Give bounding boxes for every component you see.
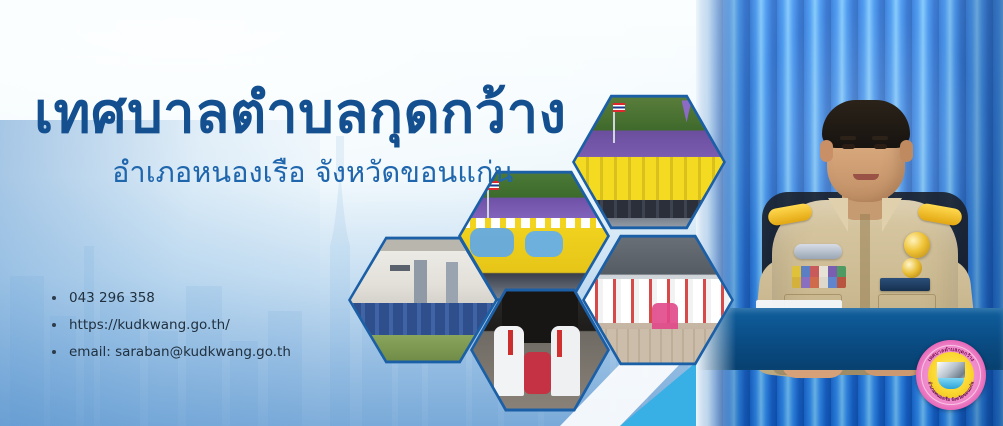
medal-small <box>902 258 922 278</box>
seal-text-ring: เทศบาลตำบลกุดกว้าง อำเภอหนองเรือ จังหวัด… <box>916 340 986 410</box>
right-eyebrow <box>872 136 888 140</box>
contact-phone-label: 043 296 358 <box>69 290 155 306</box>
hair <box>822 100 910 148</box>
bullet-icon <box>52 350 56 354</box>
ribbon-bars <box>792 266 846 288</box>
medal-large <box>904 232 930 258</box>
right-ear <box>900 140 913 162</box>
contact-item-website[interactable]: https://kudkwang.go.th/ <box>52 317 291 333</box>
panel-soft-edge <box>696 0 736 426</box>
seal-top-text: เทศบาลตำบลกุดกว้าง <box>927 346 976 364</box>
contact-email-label: email: saraban@kudkwang.go.th <box>69 344 291 360</box>
name-badge <box>880 278 930 291</box>
contact-item-email[interactable]: email: saraban@kudkwang.go.th <box>52 344 291 360</box>
wing-insignia <box>794 244 842 259</box>
right-eye <box>874 144 887 149</box>
mouth <box>853 174 879 180</box>
left-eyebrow <box>840 136 856 140</box>
page-title: เทศบาลตำบลกุดกว้าง <box>34 84 567 143</box>
contact-item-phone[interactable]: 043 296 358 <box>52 290 291 306</box>
left-ear <box>820 140 833 162</box>
collar-right <box>882 198 902 232</box>
seal-bottom-text: อำเภอหนองเรือ จังหวัดขอนแก่น <box>926 380 976 403</box>
contact-website-label: https://kudkwang.go.th/ <box>69 317 230 333</box>
bullet-icon <box>52 296 56 300</box>
collar-left <box>828 198 848 232</box>
contact-list: 043 296 358 https://kudkwang.go.th/ emai… <box>52 290 291 372</box>
left-eye <box>842 144 855 149</box>
page-subtitle: อำเภอหนองเรือ จังหวัดขอนแก่น <box>112 157 513 189</box>
municipality-seal[interactable]: เทศบาลตำบลกุดกว้าง อำเภอหนองเรือ จังหวัด… <box>916 340 986 410</box>
municipality-banner: เทศบาลตำบลกุดกว้าง อำเภอหนองเรือ จังหวัด… <box>0 0 1003 426</box>
bullet-icon <box>52 323 56 327</box>
